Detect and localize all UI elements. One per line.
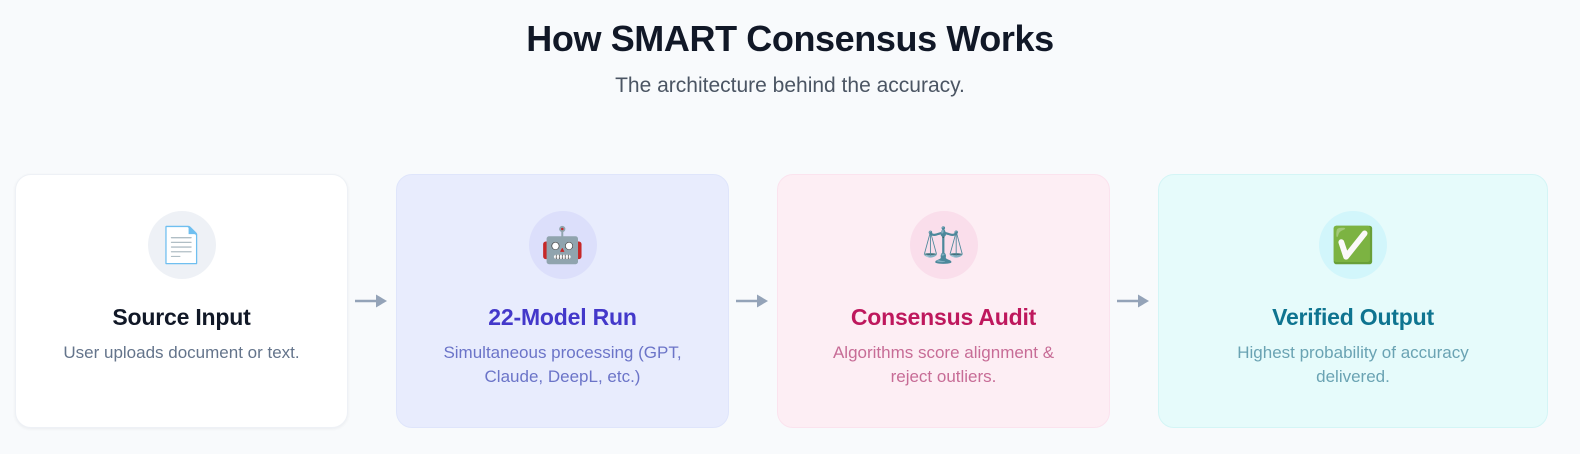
step-description: Algorithms score alignment & reject outl… [819,341,1069,389]
step-card-22-model-run[interactable]: 🤖 22-Model Run Simultaneous processing (… [396,174,729,428]
step-title: Source Input [112,303,250,331]
step-description: Highest probability of accuracy delivere… [1228,341,1478,389]
arrow-step2-to-step3 [729,174,777,428]
steps-flow: 📄 Source Input User uploads document or … [15,174,1548,428]
page-title: How SMART Consensus Works [0,17,1580,61]
step-card-consensus-audit[interactable]: ⚖️ Consensus Audit Algorithms score alig… [777,174,1110,428]
how-it-works-section: How SMART Consensus Works The architectu… [0,0,1580,454]
step-description: Simultaneous processing (GPT, Claude, De… [438,341,688,389]
step-card-source-input[interactable]: 📄 Source Input User uploads document or … [15,174,348,428]
step-title: Verified Output [1272,303,1434,331]
step-title: Consensus Audit [851,303,1036,331]
robot-icon: 🤖 [529,211,597,279]
step-description: User uploads document or text. [63,341,299,365]
balance-scale-icon: ⚖️ [910,211,978,279]
step-title: 22-Model Run [488,303,636,331]
check-mark-button-icon: ✅ [1319,211,1387,279]
page-subtitle: The architecture behind the accuracy. [0,72,1580,99]
section-header: How SMART Consensus Works The architectu… [0,0,1580,99]
arrow-step1-to-step2 [348,174,396,428]
arrow-step3-to-step4 [1110,174,1158,428]
page-facing-up-icon: 📄 [148,211,216,279]
step-card-verified-output[interactable]: ✅ Verified Output Highest probability of… [1158,174,1548,428]
